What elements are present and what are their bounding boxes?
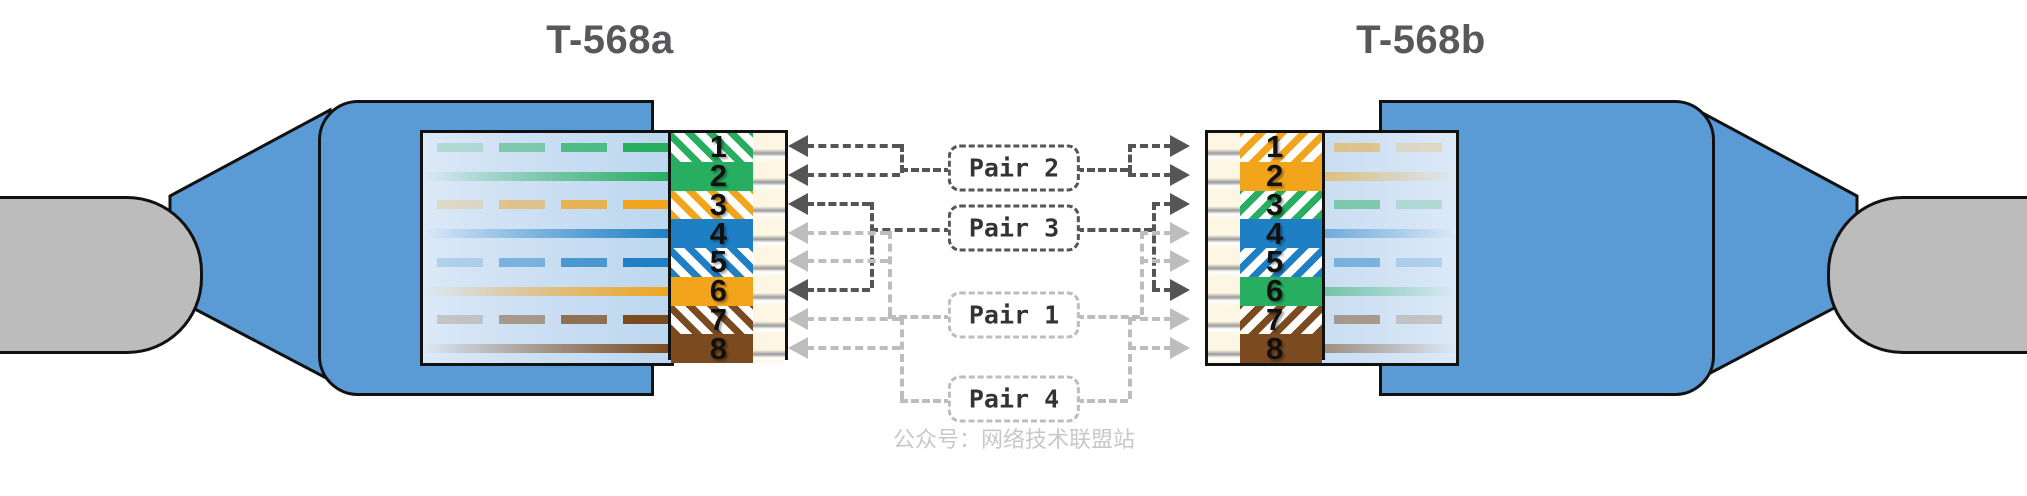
wire-strand-dashed bbox=[1334, 258, 1380, 267]
pair-arrow-right bbox=[1170, 308, 1190, 330]
pin-contact bbox=[1208, 306, 1240, 335]
pin-row: 8 bbox=[1208, 334, 1322, 363]
pin-contact bbox=[1208, 248, 1240, 277]
pin-contact bbox=[1208, 334, 1240, 363]
pin-row: 7 bbox=[1208, 306, 1322, 335]
pin-number: 6 bbox=[710, 277, 727, 306]
wire-strand-dashed bbox=[499, 143, 545, 152]
pin-row: 3 bbox=[671, 191, 785, 220]
wire-strand bbox=[423, 172, 671, 181]
pair-connector-line bbox=[1152, 202, 1156, 288]
pair-arrow-left bbox=[788, 337, 808, 359]
pin-row: 1 bbox=[671, 133, 785, 162]
pair-connector-line bbox=[1128, 317, 1172, 321]
pair-connector-line bbox=[806, 144, 900, 148]
pin-row: 6 bbox=[1208, 277, 1322, 306]
pin-number: 3 bbox=[710, 191, 727, 220]
pin-number: 5 bbox=[1266, 248, 1283, 277]
wire-strand bbox=[423, 229, 671, 238]
pin-contact bbox=[753, 334, 785, 363]
pin-contact bbox=[1208, 277, 1240, 306]
watermark-text: 公众号：网络技术联盟站 bbox=[893, 422, 1135, 454]
page-title-t568a: T-568a bbox=[546, 18, 674, 63]
wire-strand-dashed bbox=[437, 315, 483, 324]
wire-strand-dashed bbox=[561, 200, 607, 209]
pin-number: 4 bbox=[1266, 219, 1283, 248]
pin-stack-t568b: 12345678 bbox=[1205, 130, 1325, 360]
rj45-wiring-diagram: T-568a T-568b 12345678 12345678 Pair 2Pa… bbox=[0, 0, 2027, 496]
wire-strand-dashed bbox=[499, 315, 545, 324]
pin-contact bbox=[753, 248, 785, 277]
pair-connector-line bbox=[1128, 144, 1132, 173]
pair-arrow-right bbox=[1170, 279, 1190, 301]
pin-number: 8 bbox=[710, 334, 727, 363]
pin-contact bbox=[753, 162, 785, 191]
wire-strand-dashed bbox=[1334, 315, 1380, 324]
pair-arrow-left bbox=[788, 308, 808, 330]
page-title-t568b: T-568b bbox=[1356, 18, 1486, 63]
wire-strand-dashed bbox=[1396, 315, 1442, 324]
wire-strand-dashed bbox=[623, 143, 669, 152]
pair-connector-line bbox=[806, 317, 900, 321]
pair-connector-line bbox=[806, 202, 870, 206]
pair-connector-line bbox=[1140, 231, 1172, 235]
pair-arrow-left bbox=[788, 250, 808, 272]
pin-contact bbox=[753, 191, 785, 220]
pin-number: 7 bbox=[1266, 306, 1283, 335]
pair-connector-line bbox=[806, 231, 888, 235]
pair-connector-line bbox=[870, 202, 874, 288]
pin-row: 3 bbox=[1208, 191, 1322, 220]
pin-number: 2 bbox=[710, 162, 727, 191]
cable-jacket-left bbox=[0, 196, 203, 354]
wire-strand-dashed bbox=[561, 143, 607, 152]
pin-row: 8 bbox=[671, 334, 785, 363]
wire-strand-dashed bbox=[561, 315, 607, 324]
pair-arrow-right bbox=[1170, 337, 1190, 359]
pin-row: 1 bbox=[1208, 133, 1322, 162]
pair-arrow-left bbox=[788, 135, 808, 157]
pair-connector-line bbox=[806, 259, 888, 263]
pair-connector-line bbox=[1128, 144, 1172, 148]
pair-arrow-right bbox=[1170, 222, 1190, 244]
pair-connector-line bbox=[1128, 346, 1172, 350]
pin-contact bbox=[1208, 133, 1240, 162]
pair-arrow-left bbox=[788, 193, 808, 215]
wire-strand-dashed bbox=[499, 258, 545, 267]
pair-connector-line bbox=[1152, 202, 1172, 206]
wire-strand bbox=[423, 287, 671, 296]
pair-connector-line bbox=[900, 317, 904, 399]
pin-number: 6 bbox=[1266, 277, 1283, 306]
pair-connector-line bbox=[1076, 168, 1128, 172]
pin-contact bbox=[1208, 219, 1240, 248]
wire-strand-dashed bbox=[1334, 200, 1380, 209]
pin-row: 4 bbox=[671, 219, 785, 248]
wire-strand-dashed bbox=[623, 315, 669, 324]
pair-connector-line bbox=[1128, 317, 1132, 399]
pair-connector-line bbox=[1076, 399, 1128, 403]
wire-strand-dashed bbox=[1396, 258, 1442, 267]
wire-strand-dashed bbox=[437, 200, 483, 209]
pin-number: 7 bbox=[710, 306, 727, 335]
wire-strand-dashed bbox=[623, 258, 669, 267]
pin-number: 2 bbox=[1266, 162, 1283, 191]
wire-strand bbox=[423, 344, 671, 353]
pair-connector-line bbox=[1128, 173, 1172, 177]
pin-row: 2 bbox=[671, 162, 785, 191]
pin-row: 5 bbox=[671, 248, 785, 277]
wire-strand-dashed bbox=[499, 200, 545, 209]
pair-arrow-right bbox=[1170, 250, 1190, 272]
pair-connector-line bbox=[900, 168, 952, 172]
pair-label: Pair 2 bbox=[948, 145, 1080, 192]
wire-strand-dashed bbox=[561, 258, 607, 267]
pair-connector-line bbox=[900, 399, 952, 403]
pin-row: 6 bbox=[671, 277, 785, 306]
pin-number: 3 bbox=[1266, 191, 1283, 220]
pair-connector-line bbox=[1140, 231, 1144, 315]
pin-contact bbox=[753, 133, 785, 162]
wire-strand-dashed bbox=[1334, 143, 1380, 152]
pin-number: 4 bbox=[710, 219, 727, 248]
pair-arrow-left bbox=[788, 222, 808, 244]
pair-connector-line bbox=[1140, 259, 1172, 263]
pair-arrow-right bbox=[1170, 164, 1190, 186]
wire-strand-dashed bbox=[437, 143, 483, 152]
pin-row: 2 bbox=[1208, 162, 1322, 191]
pin-stack-t568a: 12345678 bbox=[668, 130, 788, 360]
pair-label: Pair 1 bbox=[948, 292, 1080, 339]
pair-connector-line bbox=[806, 173, 900, 177]
pair-connector-line bbox=[900, 144, 904, 173]
wire-strand-dashed bbox=[1396, 143, 1442, 152]
pair-arrow-right bbox=[1170, 135, 1190, 157]
pair-connector-line bbox=[806, 346, 900, 350]
pair-label: Pair 4 bbox=[948, 376, 1080, 423]
pin-contact bbox=[753, 306, 785, 335]
pin-contact bbox=[1208, 162, 1240, 191]
pair-arrow-right bbox=[1170, 193, 1190, 215]
wire-strand-dashed bbox=[623, 200, 669, 209]
pin-number: 8 bbox=[1266, 334, 1283, 363]
pair-arrow-left bbox=[788, 279, 808, 301]
pair-connector-line bbox=[1152, 288, 1172, 292]
pin-contact bbox=[1208, 191, 1240, 220]
wire-fanout-window-left bbox=[420, 130, 674, 366]
pin-number: 5 bbox=[710, 248, 727, 277]
pair-connector-line bbox=[806, 288, 870, 292]
pin-contact bbox=[753, 219, 785, 248]
pin-number: 1 bbox=[710, 133, 727, 162]
wire-strand-dashed bbox=[1396, 200, 1442, 209]
pair-label: Pair 3 bbox=[948, 205, 1080, 252]
pin-number: 1 bbox=[1266, 133, 1283, 162]
pair-connector-line bbox=[888, 231, 892, 315]
pin-row: 7 bbox=[671, 306, 785, 335]
wire-strand-dashed bbox=[437, 258, 483, 267]
wire-strands-left bbox=[423, 133, 671, 363]
pin-contact bbox=[753, 277, 785, 306]
pin-row: 5 bbox=[1208, 248, 1322, 277]
cable-jacket-right bbox=[1827, 196, 2027, 354]
pin-row: 4 bbox=[1208, 219, 1322, 248]
pair-arrow-left bbox=[788, 164, 808, 186]
